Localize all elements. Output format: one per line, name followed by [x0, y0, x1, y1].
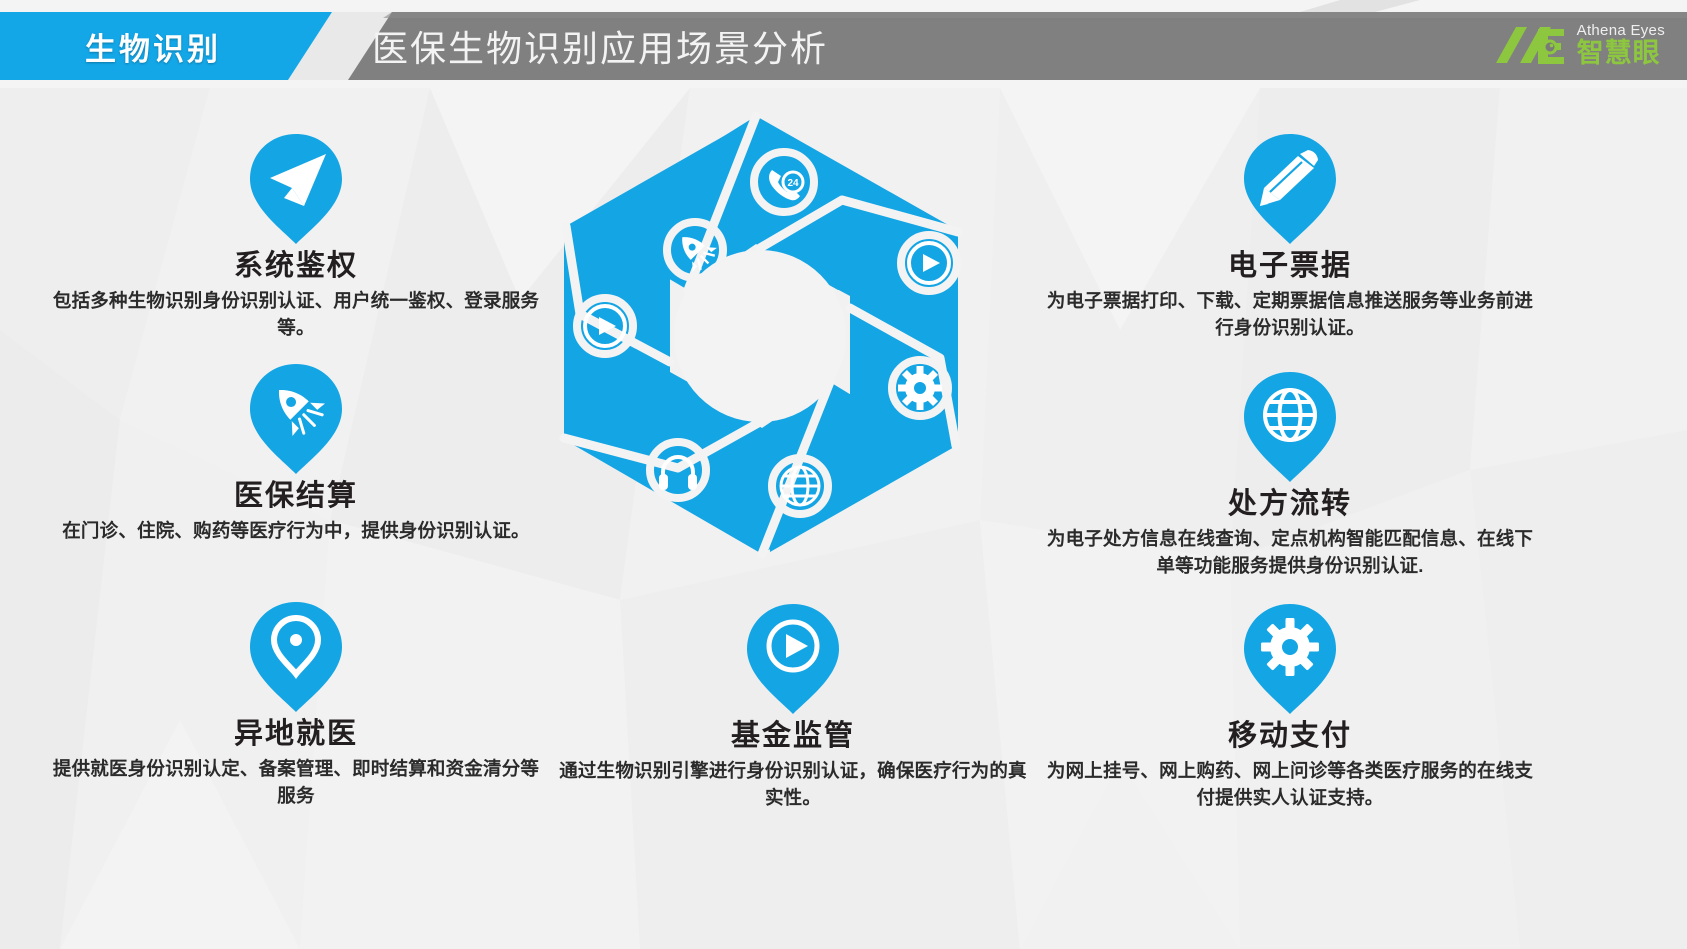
card-description: 为电子票据打印、下载、定期票据信息推送服务等业务前进行身份识别认证。	[1040, 288, 1540, 341]
logo-en-text: Athena Eyes	[1577, 23, 1665, 38]
gear-icon	[1240, 600, 1340, 718]
card-title: 电子票据	[1040, 250, 1540, 283]
card-description: 在门诊、住院、购药等医疗行为中，提供身份识别认证。	[46, 518, 546, 544]
card-mobile-payment: 移动支付 为网上挂号、网上购药、网上问诊等各类医疗服务的在线支付提供实人认证支持…	[1040, 600, 1540, 811]
card-title: 基金监管	[558, 720, 1028, 753]
card-title: 移动支付	[1040, 720, 1540, 753]
card-description: 为网上挂号、网上购药、网上问诊等各类医疗服务的在线支付提供实人认证支持。	[1040, 758, 1540, 811]
page-title: 医保生物识别应用场景分析	[372, 20, 828, 72]
play-circle-icon-left	[577, 298, 633, 354]
slide-header: 生物识别 医保生物识别应用场景分析 Athena Eyes 智慧眼	[0, 0, 1687, 88]
card-title: 处方流转	[1040, 488, 1540, 521]
hexagon-pinwheel-diagram: 24	[520, 108, 990, 558]
brand-logo: Athena Eyes 智慧眼	[1494, 18, 1665, 72]
logo-cn-text: 智慧眼	[1577, 40, 1665, 67]
ae-monogram-icon	[1494, 23, 1568, 67]
hexagon-pinwheel-svg: 24	[520, 108, 990, 558]
play-circle-icon	[743, 600, 843, 718]
card-description: 提供就医身份识别认定、备案管理、即时结算和资金清分等服务	[46, 756, 546, 809]
paper-plane-icon	[246, 130, 346, 248]
card-insurance-settlement: 医保结算 在门诊、住院、购药等医疗行为中，提供身份识别认证。	[46, 360, 546, 545]
pencil-icon	[1240, 130, 1340, 248]
card-title: 系统鉴权	[46, 250, 546, 283]
play-circle-icon-right	[901, 235, 957, 291]
card-description: 包括多种生物识别身份识别认证、用户统一鉴权、登录服务等。	[46, 288, 546, 341]
card-system-auth: 系统鉴权 包括多种生物识别身份识别认证、用户统一鉴权、登录服务等。	[46, 130, 546, 341]
globe-icon	[1240, 368, 1340, 486]
slide-content: 24	[0, 88, 1687, 949]
card-title: 异地就医	[46, 718, 546, 751]
map-pin-icon	[246, 598, 346, 716]
card-remote-treatment: 异地就医 提供就医身份识别认定、备案管理、即时结算和资金清分等服务	[46, 598, 546, 809]
card-title: 医保结算	[46, 480, 546, 513]
card-description: 通过生物识别引擎进行身份识别认证，确保医疗行为的真实性。	[558, 758, 1028, 811]
globe-icon-center	[772, 458, 828, 514]
card-electronic-invoice: 电子票据 为电子票据打印、下载、定期票据信息推送服务等业务前进行身份识别认证。	[1040, 130, 1540, 341]
gear-icon-right	[892, 360, 948, 416]
card-fund-supervision: 基金监管 通过生物识别引擎进行身份识别认证，确保医疗行为的真实性。	[558, 600, 1028, 811]
rocket-icon	[246, 360, 346, 478]
badge-24-label: 24	[787, 178, 799, 189]
header-tag-label: 生物识别	[38, 24, 268, 68]
card-description: 为电子处方信息在线查询、定点机构智能匹配信息、在线下单等功能服务提供身份识别认证…	[1040, 526, 1540, 579]
card-prescription-circulation: 处方流转 为电子处方信息在线查询、定点机构智能匹配信息、在线下单等功能服务提供身…	[1040, 368, 1540, 579]
